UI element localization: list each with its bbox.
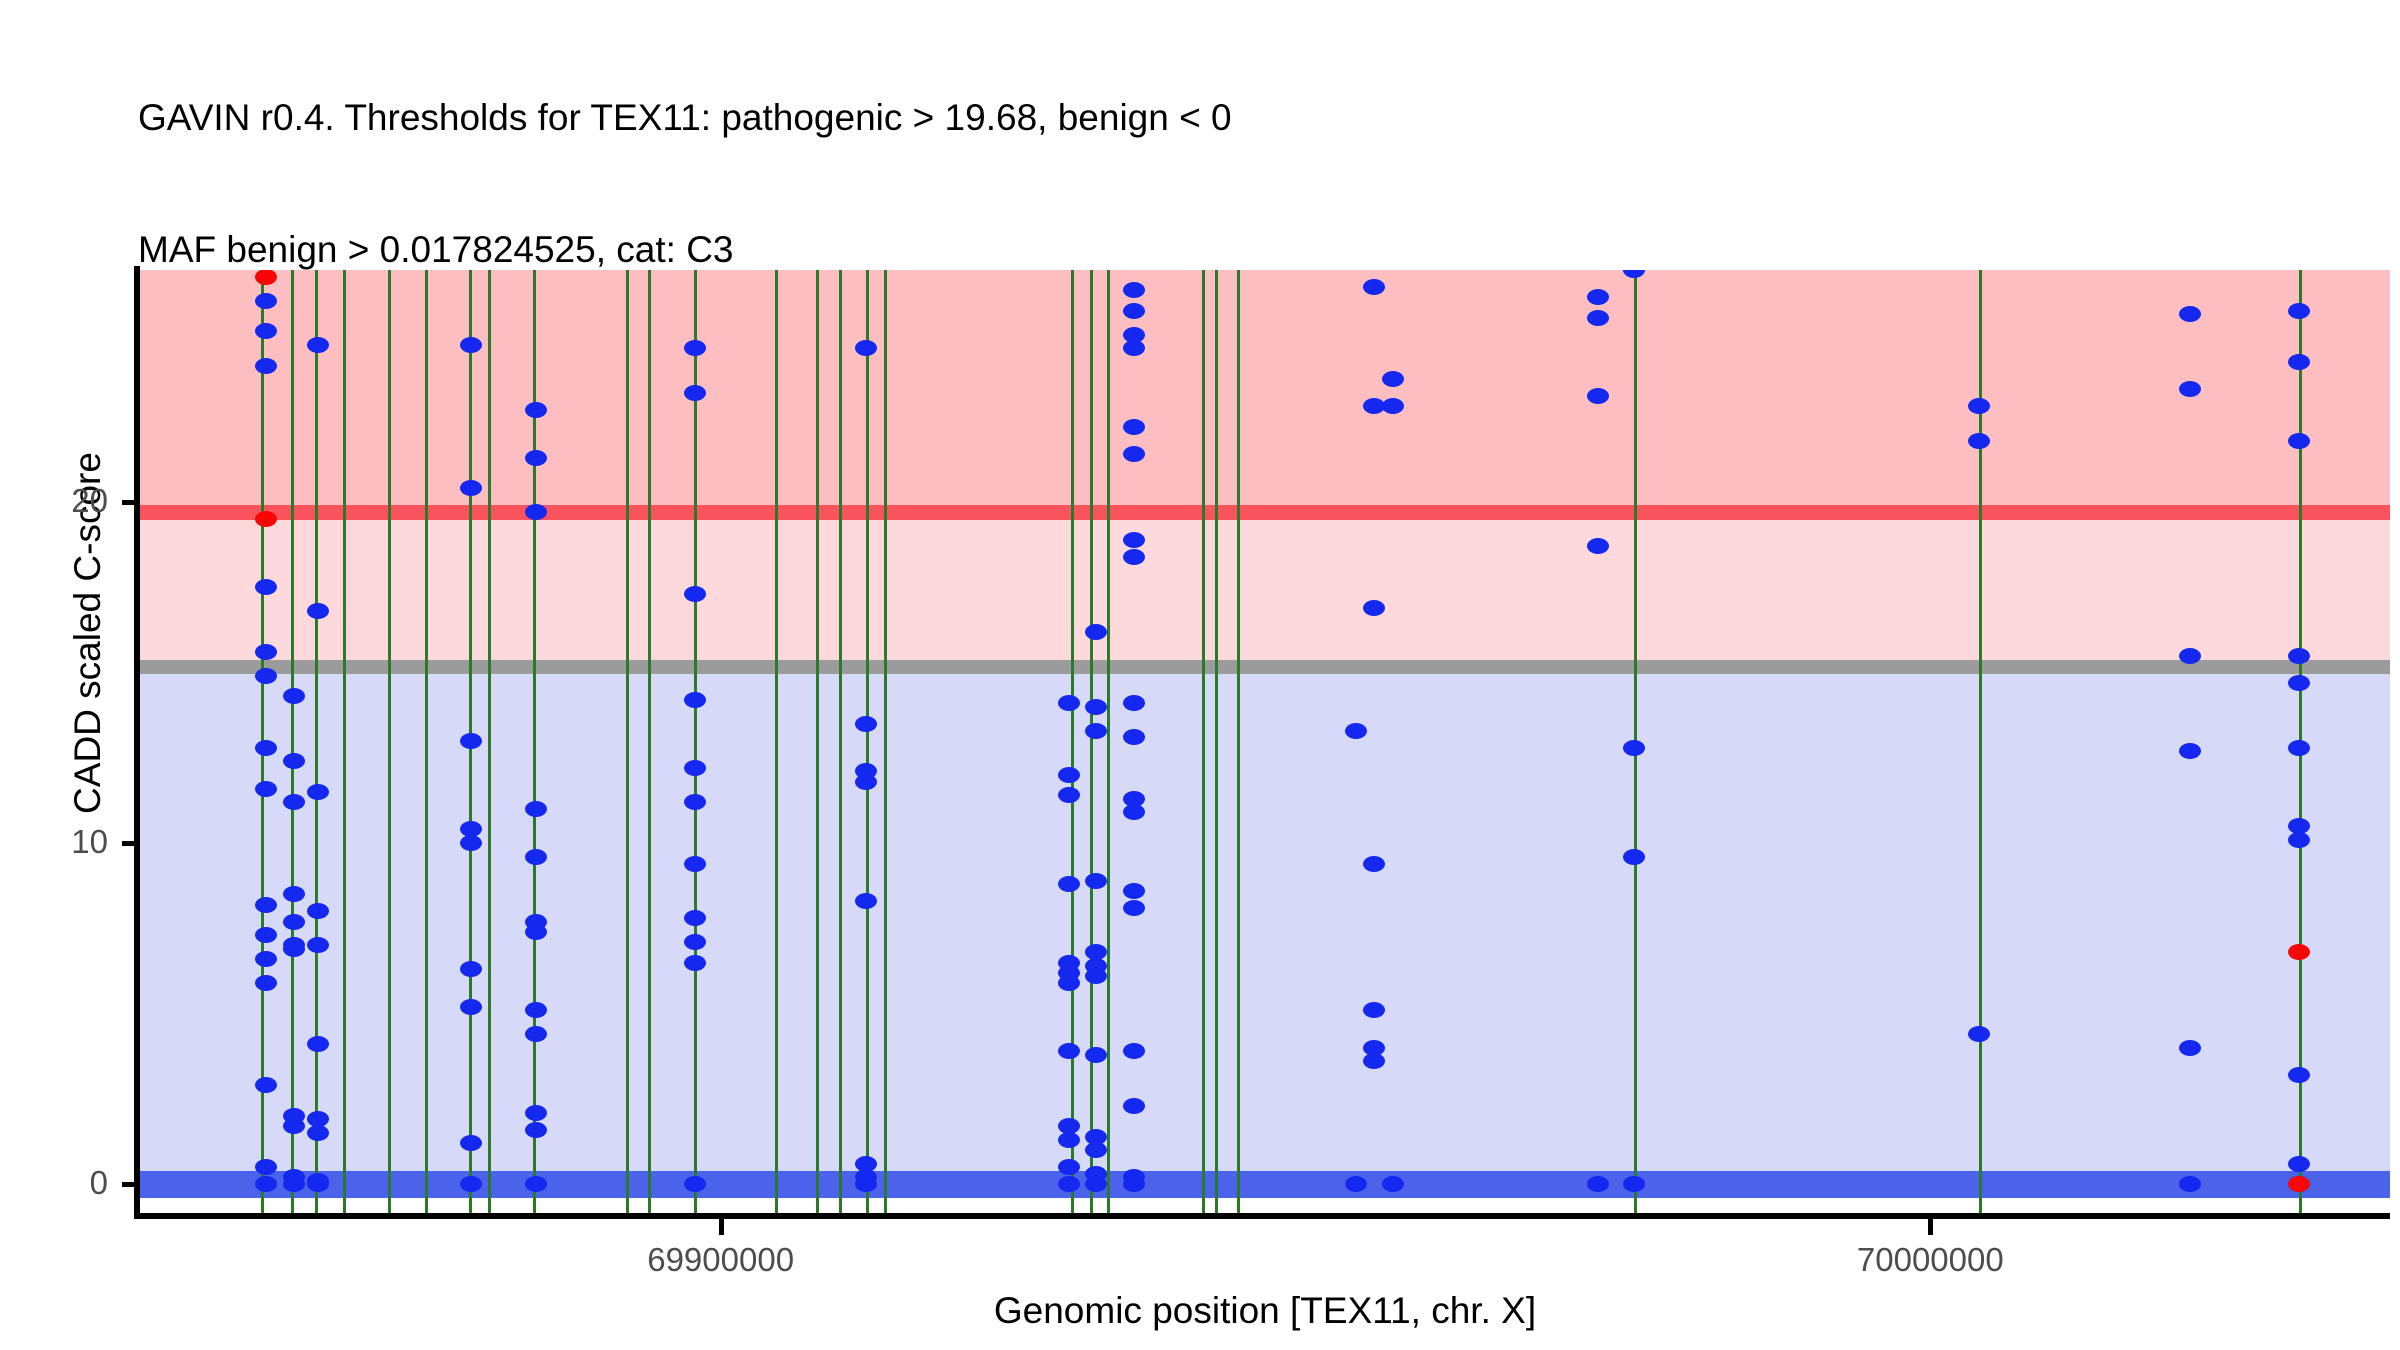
y-tick: [122, 500, 138, 505]
gnomad-variant-point: [684, 955, 706, 971]
gnomad-variant-point: [307, 784, 329, 800]
exon-line: [488, 270, 491, 1215]
y-tick-label: 0: [18, 1164, 108, 1202]
chart-root: GAVIN r0.4. Thresholds for TEX11: pathog…: [0, 0, 2400, 1350]
gnomad-variant-point: [1058, 876, 1080, 892]
gnomad-variant-point: [1123, 532, 1145, 548]
gnomad-variant-point: [2288, 433, 2310, 449]
title-line-1: GAVIN r0.4. Thresholds for TEX11: pathog…: [138, 96, 2238, 140]
gnomad-variant-point: [525, 1105, 547, 1121]
gnomad-variant-point: [1968, 1026, 1990, 1042]
gnomad-variant-point: [255, 781, 277, 797]
gnomad-variant-point: [2288, 1156, 2310, 1172]
gnomad-variant-point: [525, 801, 547, 817]
gnomad-variant-point: [255, 975, 277, 991]
gnomad-variant-point: [1587, 538, 1609, 554]
x-axis-line: [134, 1213, 2390, 1219]
gnomad-variant-point: [1058, 767, 1080, 783]
exon-line: [884, 270, 887, 1215]
gnomad-variant-point: [255, 927, 277, 943]
exon-line: [1090, 270, 1093, 1215]
y-axis-line: [134, 266, 140, 1219]
gnomad-variant-point: [684, 856, 706, 872]
gnomad-variant-point: [684, 692, 706, 708]
gnomad-variant-point: [525, 1026, 547, 1042]
gnomad-variant-point: [283, 941, 305, 957]
gnomad-variant-point: [525, 1002, 547, 1018]
gnomad-variant-point: [1123, 549, 1145, 565]
gnomad-variant-point: [307, 337, 329, 353]
gnomad-variant-point: [255, 579, 277, 595]
exon-line: [425, 270, 428, 1215]
gnomad-variant-point: [1085, 873, 1107, 889]
x-axis-label: Genomic position [TEX11, chr. X]: [140, 1290, 2390, 1332]
gnomad-variant-point: [1085, 1176, 1107, 1192]
gnomad-variant-point: [525, 504, 547, 520]
gnomad-variant-point: [1363, 279, 1385, 295]
x-tick-label: 70000000: [1770, 1241, 2090, 1279]
y-tick: [122, 841, 138, 846]
gnomad-variant-point: [1085, 723, 1107, 739]
gnomad-variant-point: [255, 740, 277, 756]
gnomad-variant-point: [255, 358, 277, 374]
gnomad-variant-point: [1345, 1176, 1367, 1192]
exon-line: [839, 270, 842, 1215]
gnomad-variant-point: [1587, 1176, 1609, 1192]
gnomad-variant-point: [525, 450, 547, 466]
exon-line: [866, 270, 869, 1215]
gnomad-variant-point: [525, 1176, 547, 1192]
gnomad-variant-point: [255, 644, 277, 660]
exon-line: [343, 270, 346, 1215]
gnomad-variant-point: [255, 293, 277, 309]
gnomad-variant-point: [2288, 675, 2310, 691]
clinvar-variant-point: [255, 270, 277, 285]
exon-line: [1107, 270, 1110, 1215]
band-pathogenic: [140, 270, 2390, 513]
gnomad-variant-point: [2179, 648, 2201, 664]
gnomad-variant-point: [255, 668, 277, 684]
gnomad-variant-point: [1363, 600, 1385, 616]
gnomad-variant-point: [1085, 1142, 1107, 1158]
x-tick-label: 69900000: [561, 1241, 881, 1279]
exon-line: [648, 270, 651, 1215]
gnomad-variant-point: [255, 1159, 277, 1175]
gnomad-variant-point: [684, 385, 706, 401]
gnomad-variant-point: [1363, 856, 1385, 872]
gnomad-variant-point: [1587, 388, 1609, 404]
gnomad-variant-point: [460, 733, 482, 749]
gnomad-variant-point: [1058, 975, 1080, 991]
gnomad-variant-point: [525, 849, 547, 865]
gnomad-variant-point: [1623, 740, 1645, 756]
exon-line: [388, 270, 391, 1215]
title-line-2: MAF benign > 0.017824525, cat: C3: [138, 228, 2238, 272]
exon-line: [291, 270, 294, 1215]
exon-line: [1237, 270, 1240, 1215]
gnomad-variant-point: [1345, 723, 1367, 739]
gnomad-variant-point: [283, 753, 305, 769]
gnomad-variant-point: [283, 1176, 305, 1192]
band-vus: [140, 513, 2390, 668]
gnomad-variant-point: [2288, 832, 2310, 848]
gnomad-variant-point: [1623, 849, 1645, 865]
gnomad-variant-point: [855, 716, 877, 732]
gnomad-variant-point: [283, 1118, 305, 1134]
gnomad-variant-point: [1587, 289, 1609, 305]
gnomad-variant-point: [255, 951, 277, 967]
gnomad-variant-point: [1085, 624, 1107, 640]
y-tick-label: 20: [18, 482, 108, 520]
gnomad-variant-point: [855, 893, 877, 909]
gnomad-variant-point: [1123, 1098, 1145, 1114]
gnomad-variant-point: [1058, 1132, 1080, 1148]
gnomad-variant-point: [525, 1122, 547, 1138]
gnomad-variant-point: [855, 774, 877, 790]
exon-line: [315, 270, 318, 1215]
gnomad-variant-point: [1085, 699, 1107, 715]
y-tick: [122, 1182, 138, 1187]
gnomad-variant-point: [525, 402, 547, 418]
gnomad-variant-point: [1587, 310, 1609, 326]
exon-line: [775, 270, 778, 1215]
exon-line: [816, 270, 819, 1215]
x-tick: [719, 1219, 724, 1235]
y-axis-label: CADD scaled C-score: [67, 183, 109, 1083]
gnomad-variant-point: [1085, 968, 1107, 984]
plot-panel: [140, 270, 2390, 1215]
exon-line: [626, 270, 629, 1215]
gnomad-variant-point: [525, 924, 547, 940]
gnomad-variant-point: [2288, 648, 2310, 664]
exon-line: [694, 270, 697, 1215]
gnomad-variant-point: [2179, 1040, 2201, 1056]
gnomad-variant-point: [1968, 433, 1990, 449]
fallback-threshold-line: [140, 660, 2390, 674]
x-tick: [1928, 1219, 1933, 1235]
clinvar-variant-point: [255, 511, 277, 527]
pathogenic-threshold-line: [140, 505, 2390, 520]
gnomad-variant-point: [283, 914, 305, 930]
gnomad-variant-point: [283, 794, 305, 810]
exon-line: [1215, 270, 1218, 1215]
gnomad-variant-point: [2288, 740, 2310, 756]
y-tick-label: 10: [18, 823, 108, 861]
gnomad-variant-point: [283, 886, 305, 902]
exon-line: [1071, 270, 1074, 1215]
exon-line: [1202, 270, 1205, 1215]
gnomad-variant-point: [1085, 1047, 1107, 1063]
gnomad-variant-point: [307, 1125, 329, 1141]
gnomad-variant-point: [255, 897, 277, 913]
gnomad-variant-point: [307, 603, 329, 619]
